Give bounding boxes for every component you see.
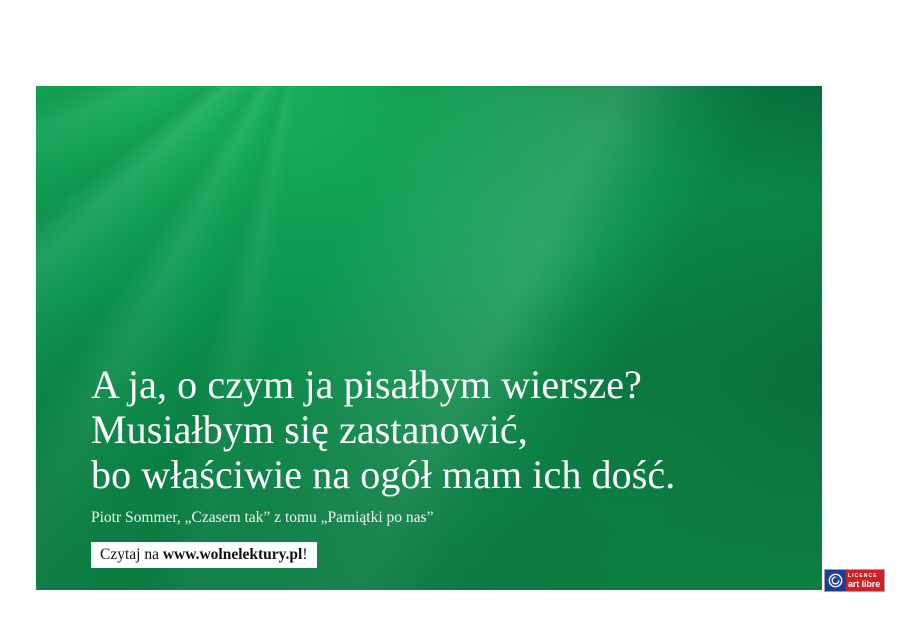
license-badge-text: LICENCE art libre	[846, 570, 884, 591]
license-badge[interactable]: LICENCE art libre	[825, 570, 884, 591]
quote-attribution: Piotr Sommer, „Czasem tak” z tomu „Pamią…	[91, 508, 802, 528]
quote-line-1: A ja, o czym ja pisałbym wiersze?	[91, 362, 802, 407]
read-online-callout[interactable]: Czytaj na www.wolnelektury.pl!	[91, 542, 317, 568]
poster-panel: A ja, o czym ja pisałbym wiersze? Musiał…	[36, 86, 822, 590]
poster-content: A ja, o czym ja pisałbym wiersze? Musiał…	[91, 362, 802, 568]
cta-suffix-label: !	[302, 546, 307, 563]
quote-line-2: Musiałbym się zastanowić,	[91, 407, 802, 452]
license-badge-line2: art libre	[848, 579, 884, 589]
art-libre-spiral-icon	[825, 570, 846, 591]
quote-line-3: bo właściwie na ogół mam ich dość.	[91, 452, 802, 497]
cta-url-link[interactable]: www.wolnelektury.pl	[163, 546, 303, 563]
cta-prefix-label: Czytaj na	[100, 546, 163, 563]
